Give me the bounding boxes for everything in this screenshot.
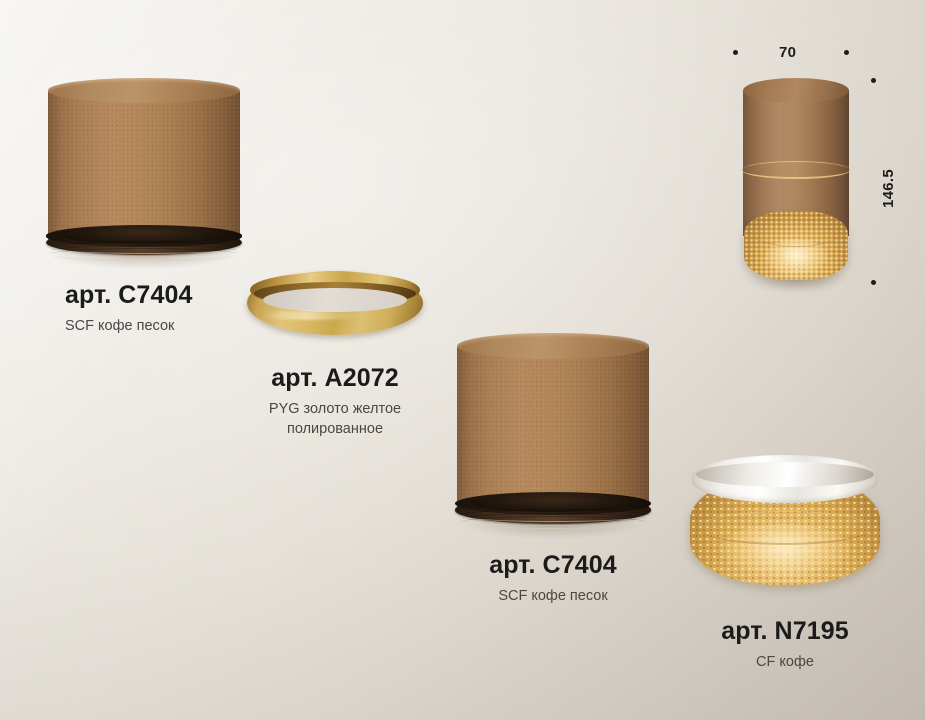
ring-aperture (263, 288, 407, 312)
art-number: арт. C7404 (65, 282, 192, 310)
label-decorative-ring: арт. A2072 PYG золото желтое полированно… (255, 365, 415, 440)
dimension-width-label: 70 (779, 44, 796, 61)
luminaire-top-cap (743, 78, 849, 103)
luminaire-head-separator (747, 209, 845, 247)
crystal-collar-lip (696, 462, 875, 487)
cylinder-body (457, 346, 649, 511)
product-diagram-canvas: арт. C7404 SCF кофе песок арт. A2072 PYG… (0, 0, 925, 720)
color-description: CF кофе (690, 653, 880, 673)
color-description-line1: PYG золото желтое (255, 400, 415, 420)
product-decorative-ring[interactable] (247, 271, 423, 335)
ring-highlight (258, 311, 364, 320)
dimension-height-label: 146.5 (880, 169, 897, 208)
color-description: SCF кофе песок (65, 317, 192, 337)
label-cylinder-top-left: арт. C7404 SCF кофе песок (65, 282, 192, 336)
product-cylinder-housing-middle[interactable] (457, 333, 649, 529)
cylinder-bottom-rim (455, 492, 652, 529)
dimension-dot-height-top (871, 78, 876, 83)
crystal-mid-band (698, 511, 873, 545)
label-cylinder-middle: арт. C7404 SCF кофе песок (453, 552, 653, 606)
cylinder-bottom-rim (46, 225, 243, 260)
luminaire-gold-ring-band (742, 161, 849, 179)
dimension-dot-width-left (733, 50, 738, 55)
cylinder-body (48, 90, 240, 243)
dimension-dot-height-bottom (871, 280, 876, 285)
thread-groove-3 (459, 516, 648, 529)
cylinder-top-face (48, 78, 240, 103)
art-number: арт. A2072 (255, 365, 415, 393)
art-number: арт. N7195 (690, 618, 880, 646)
product-cylinder-housing-top-left[interactable] (48, 78, 240, 260)
label-crystal-diffuser: арт. N7195 CF кофе (690, 618, 880, 672)
thread-groove-3 (50, 248, 239, 260)
art-number: арт. C7404 (453, 552, 653, 580)
color-description: SCF кофе песок (453, 587, 653, 607)
assembled-luminaire[interactable] (743, 78, 849, 286)
color-description-line2: полированное (255, 420, 415, 440)
product-crystal-diffuser[interactable] (690, 455, 880, 595)
dimension-dot-width-right (844, 50, 849, 55)
